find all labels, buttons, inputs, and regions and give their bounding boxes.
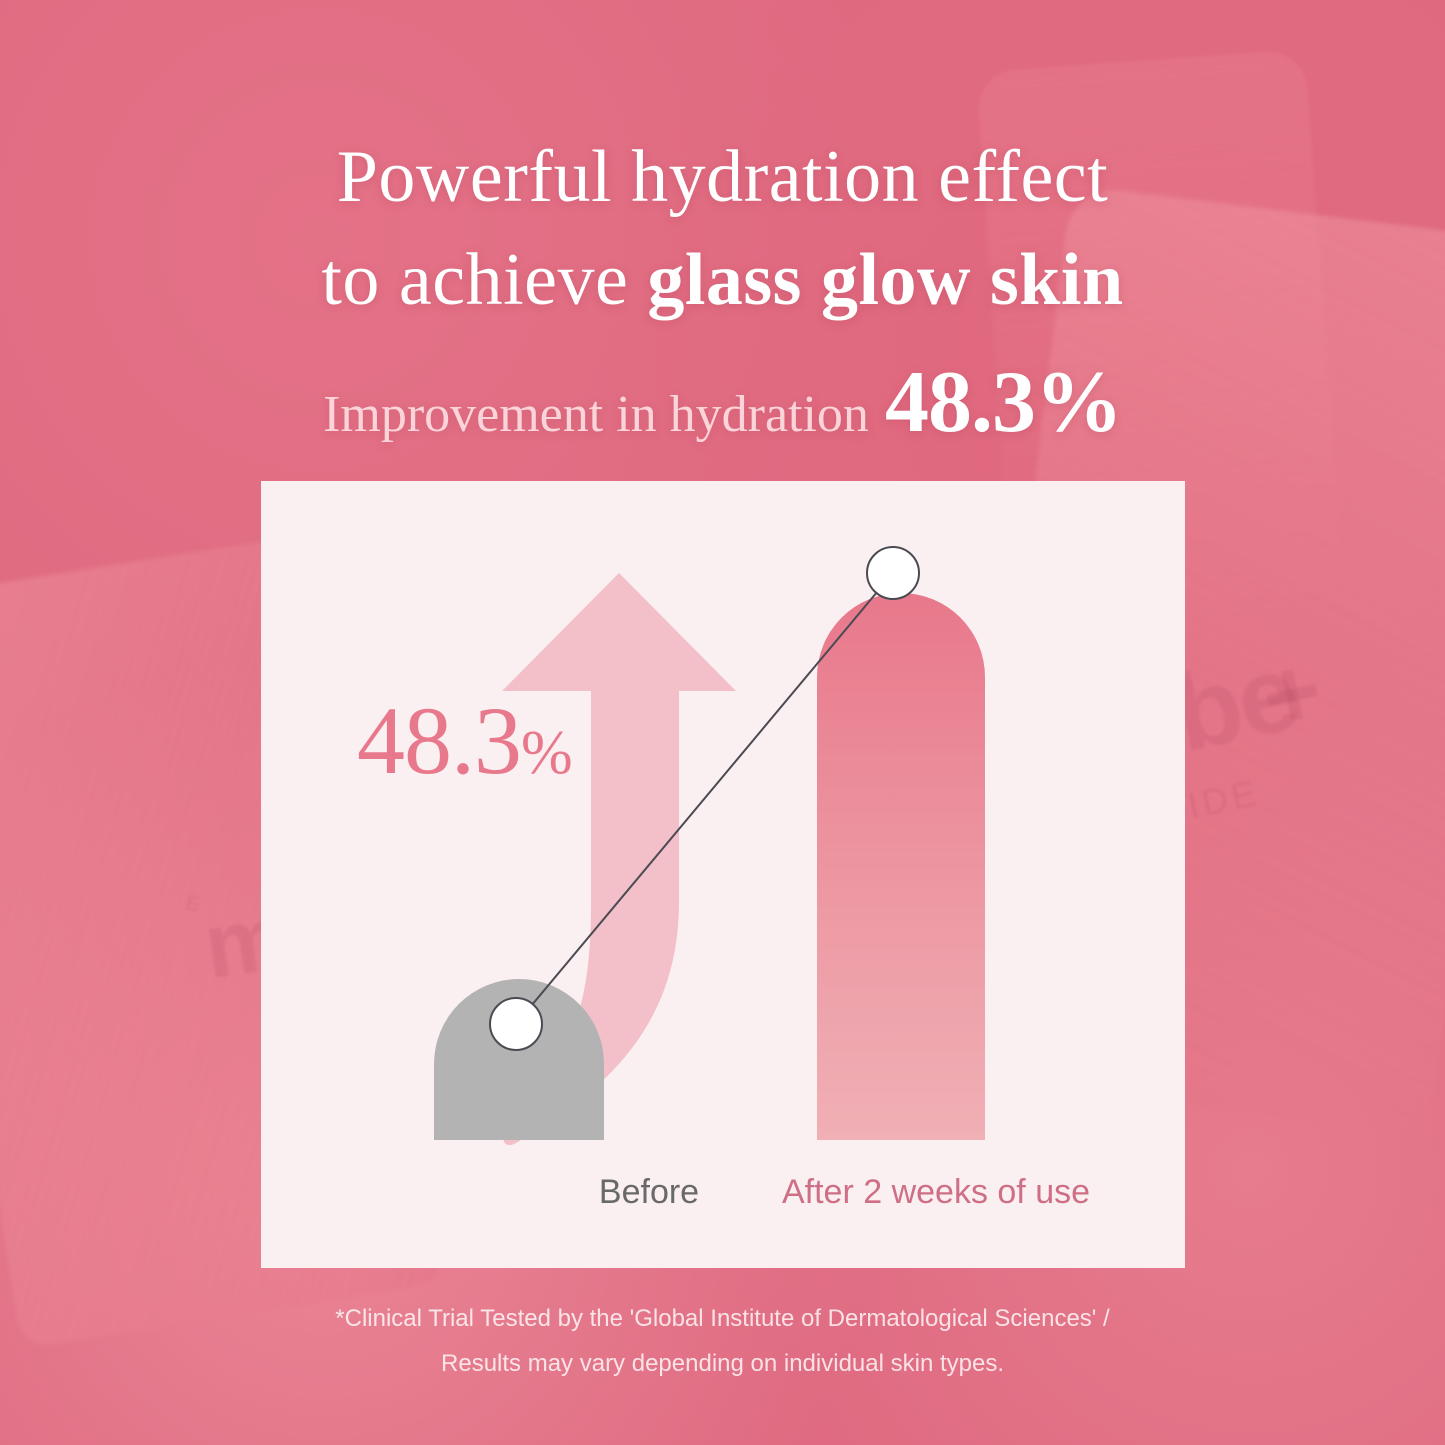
bar-after: [817, 593, 985, 1140]
subheadline-label: Improvement in hydration: [323, 386, 869, 443]
brand-cross-logo-icon: [1260, 663, 1324, 727]
watermark-fine-print: m: [178, 692, 242, 913]
footnote-line-2: Results may vary depending on individual…: [0, 1341, 1445, 1386]
subheadline: Improvement in hydration48.3%: [0, 352, 1445, 453]
chart-callout-number: 48.3: [357, 687, 521, 794]
promo-poster: be IIDE m m Powerful hydration effect to…: [0, 0, 1445, 1445]
subheadline-value: 48.3%: [885, 354, 1122, 451]
headline-line-1: Powerful hydration effect: [0, 126, 1445, 229]
headline-line-2-emphasis: glass glow skin: [647, 239, 1123, 321]
chart-improvement-callout: 48.3%: [357, 693, 572, 801]
hydration-bar-chart: [261, 481, 1185, 1268]
marker-after: [867, 547, 919, 599]
headline-line-2-prefix: to achieve: [321, 239, 647, 321]
axis-label-after: After 2 weeks of use: [691, 1173, 1181, 1212]
footnote: *Clinical Trial Tested by the 'Global In…: [0, 1296, 1445, 1386]
chart-callout-percent-sign: %: [521, 719, 572, 787]
marker-before: [490, 998, 542, 1050]
headline-line-2: to achieve glass glow skin: [0, 229, 1445, 332]
headline: Powerful hydration effect to achieve gla…: [0, 126, 1445, 332]
chart-card: 48.3% Before After 2 weeks of use: [261, 481, 1185, 1268]
footnote-line-1: *Clinical Trial Tested by the 'Global In…: [0, 1296, 1445, 1341]
